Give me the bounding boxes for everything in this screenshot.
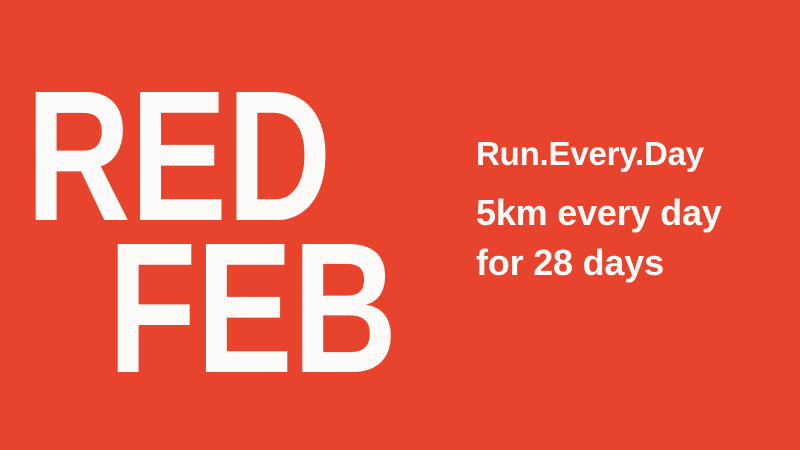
wordmark-line-feb: FEB xyxy=(108,216,397,402)
tagline-distance: 5km every day xyxy=(476,195,786,231)
red-feb-poster: RED FEB Run.Every.Day 5km every day for … xyxy=(0,0,800,450)
tagline-duration: for 28 days xyxy=(476,245,786,281)
tagline-slogan: Run.Every.Day xyxy=(476,137,786,170)
tagline-block: Run.Every.Day 5km every day for 28 days xyxy=(476,137,786,281)
wordmark: RED FEB xyxy=(0,0,450,450)
